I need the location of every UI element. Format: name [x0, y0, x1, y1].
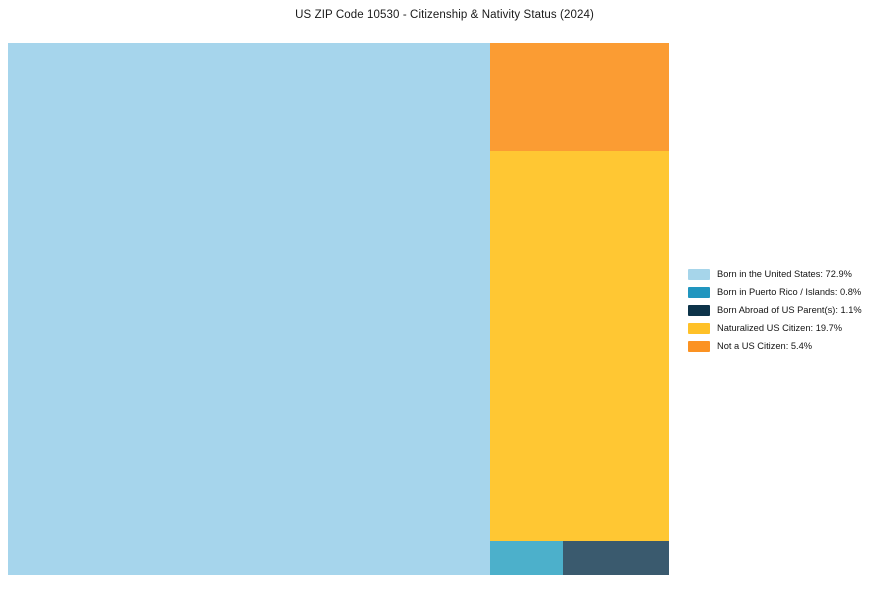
legend-item-born-abroad-of-us-parents[interactable]: Born Abroad of US Parent(s): 1.1% — [688, 301, 884, 319]
treemap-tile-born-in-puerto-rico-islands[interactable] — [490, 541, 563, 575]
legend-swatch-icon — [688, 305, 710, 316]
legend-swatch-icon — [688, 323, 710, 334]
treemap-tile-naturalized-us-citizen[interactable] — [490, 151, 669, 541]
legend-item-not-a-us-citizen[interactable]: Not a US Citizen: 5.4% — [688, 337, 884, 355]
chart-figure: US ZIP Code 10530 - Citizenship & Nativi… — [0, 0, 889, 590]
treemap-plot-area — [8, 43, 669, 575]
legend-item-label: Born Abroad of US Parent(s): 1.1% — [717, 305, 862, 316]
legend-item-label: Born in Puerto Rico / Islands: 0.8% — [717, 287, 861, 298]
treemap-tile-born-in-the-united-states[interactable] — [8, 43, 490, 575]
legend-item-naturalized-us-citizen[interactable]: Naturalized US Citizen: 19.7% — [688, 319, 884, 337]
legend-item-label: Born in the United States: 72.9% — [717, 269, 852, 280]
legend-swatch-icon — [688, 269, 710, 280]
legend-item-born-in-the-united-states[interactable]: Born in the United States: 72.9% — [688, 265, 884, 283]
legend-item-label: Not a US Citizen: 5.4% — [717, 341, 812, 352]
legend-swatch-icon — [688, 341, 710, 352]
legend-swatch-icon — [688, 287, 710, 298]
treemap-tile-born-abroad-of-us-parents[interactable] — [563, 541, 669, 575]
page-title: US ZIP Code 10530 - Citizenship & Nativi… — [0, 9, 889, 21]
legend-item-label: Naturalized US Citizen: 19.7% — [717, 323, 842, 334]
treemap-tile-not-a-us-citizen[interactable] — [490, 43, 669, 151]
chart-legend: Born in the United States: 72.9% Born in… — [688, 265, 884, 355]
legend-item-born-in-puerto-rico-islands[interactable]: Born in Puerto Rico / Islands: 0.8% — [688, 283, 884, 301]
